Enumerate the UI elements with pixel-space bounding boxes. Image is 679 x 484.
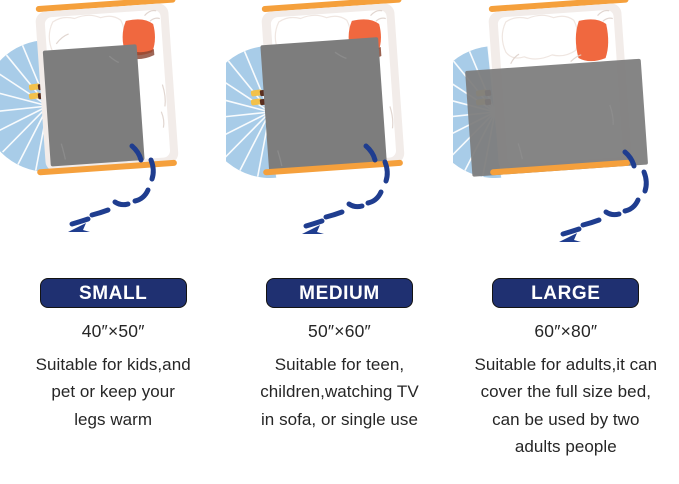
bed-group — [252, 0, 413, 175]
description-line: in sofa, or single use — [231, 406, 447, 434]
description-line: legs warm — [5, 406, 221, 434]
description-large: Suitable for adults,it can cover the ful… — [458, 351, 674, 461]
description-line: children,watching TV — [231, 378, 447, 406]
bed-group — [460, 0, 647, 177]
dimensions-small: 40″×50″ — [82, 321, 145, 343]
badge-medium[interactable]: MEDIUM — [266, 278, 413, 308]
badge-small[interactable]: SMALL — [40, 278, 187, 308]
badge-label-large: LARGE — [531, 284, 601, 303]
size-column-medium: MEDIUM 50″×60″ Suitable for teen, childr… — [226, 0, 452, 484]
description-line: Suitable for kids,and — [5, 351, 221, 379]
dimensions-large: 60″×80″ — [534, 321, 597, 343]
bed-group — [26, 0, 187, 175]
size-column-small: SMALL 40″×50″ Suitable for kids,and pet … — [0, 0, 226, 484]
description-line: adults people — [458, 433, 674, 461]
description-small: Suitable for kids,and pet or keep your l… — [5, 351, 221, 434]
description-line: Suitable for adults,it can — [458, 351, 674, 379]
badge-large[interactable]: LARGE — [492, 278, 639, 308]
bed-with-small-blanket-illustration — [0, 0, 226, 272]
bed-with-medium-blanket-illustration — [226, 0, 452, 272]
pillow-white — [501, 13, 579, 61]
description-line: Suitable for teen, — [231, 351, 447, 379]
blanket-medium — [261, 37, 388, 173]
size-column-large: LARGE 60″×80″ Suitable for adults,it can… — [453, 0, 679, 484]
badge-label-medium: MEDIUM — [299, 284, 380, 303]
description-line: cover the full size bed, — [458, 378, 674, 406]
bed-with-large-blanket-illustration — [453, 0, 679, 272]
blanket-large — [465, 59, 648, 177]
blanket-small — [43, 44, 145, 166]
dimensions-medium: 50″×60″ — [308, 321, 371, 343]
badge-label-small: SMALL — [79, 284, 147, 303]
infographic-board: SMALL 40″×50″ Suitable for kids,and pet … — [0, 0, 679, 484]
description-line: can be used by two — [458, 406, 674, 434]
description-medium: Suitable for teen, children,watching TV … — [231, 351, 447, 434]
description-line: pet or keep your — [5, 378, 221, 406]
